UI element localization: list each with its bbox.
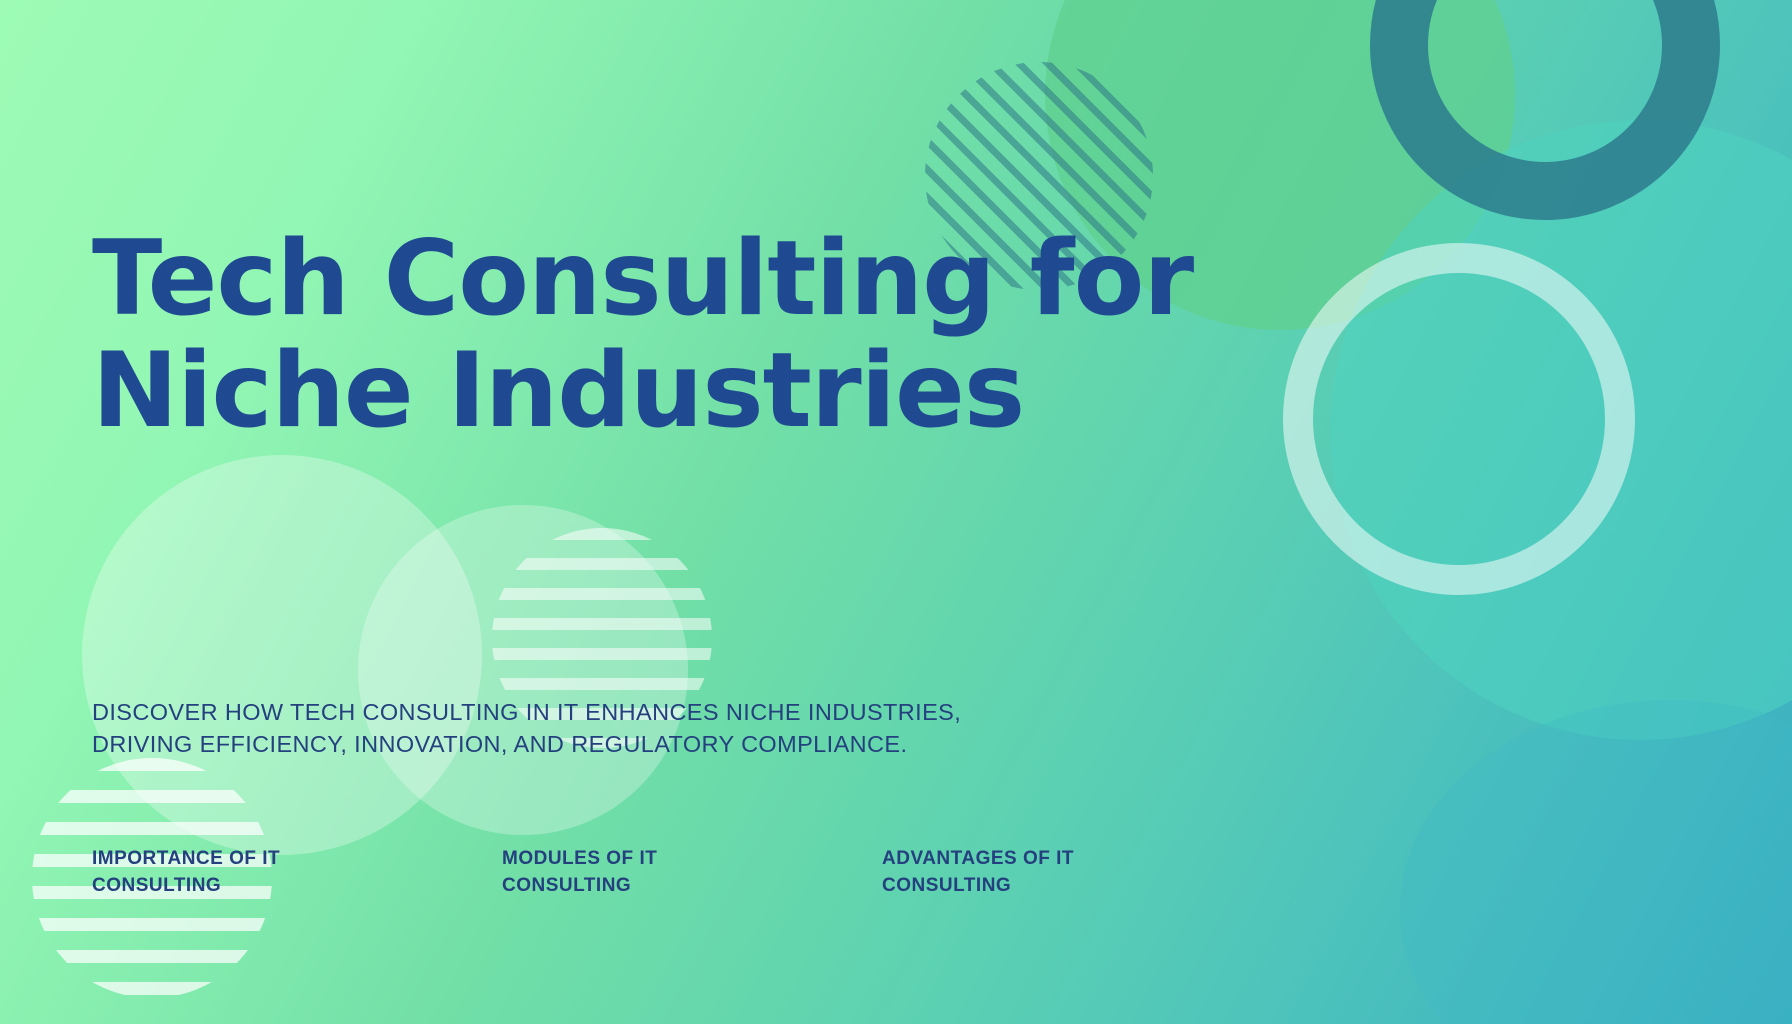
section-label-advantages: Advantages of IT Consulting [882,845,1282,899]
section-label-importance: Importance of IT Consulting [92,845,502,899]
section-label-row: Importance of IT Consulting Modules of I… [92,845,1392,899]
slide-title: Tech Consulting for Niche Industries [92,223,1212,447]
slide-subtitle: Discover how Tech Consulting in IT enhan… [92,696,1052,760]
presentation-slide: Tech Consulting for Niche Industries Dis… [0,0,1792,1024]
slide-content: Tech Consulting for Niche Industries Dis… [0,0,1792,1024]
section-label-modules: Modules of IT Consulting [502,845,882,899]
